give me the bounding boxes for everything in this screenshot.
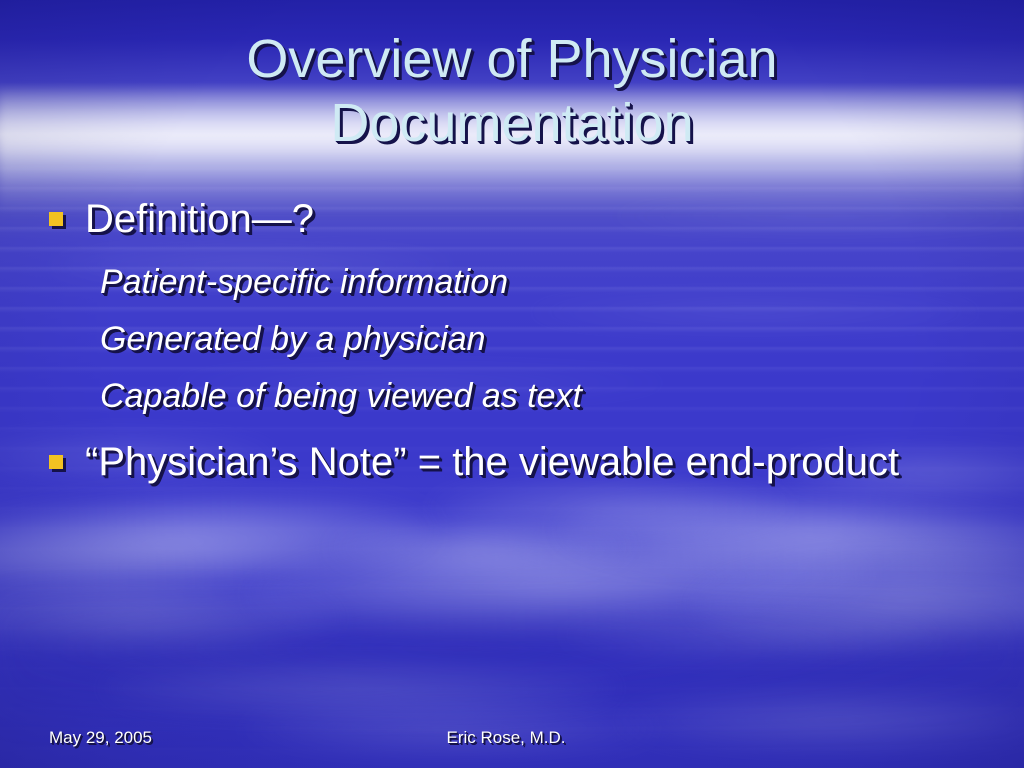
square-bullet-icon	[49, 455, 63, 469]
slide-title-line-2: Documentation	[330, 93, 693, 153]
bullet-item-label: “Physician’s Note” = the viewable end-pr…	[85, 440, 899, 484]
presentation-slide: Overview of Physician Documentation Defi…	[0, 0, 1024, 768]
sub-item-generated-by-a-physician: Generated by a physician	[100, 311, 944, 368]
footer-author: Eric Rose, M.D.	[0, 728, 1024, 748]
sub-item-capable-of-being-viewed-as-text: Capable of being viewed as text	[100, 368, 944, 425]
slide-body: Definition—? Patient-specific informatio…	[44, 196, 944, 486]
slide-content: Overview of Physician Documentation Defi…	[0, 0, 1024, 768]
square-bullet-icon	[49, 212, 63, 226]
slide-title: Overview of Physician Documentation	[50, 27, 974, 155]
bullet-item-label: Definition—?	[85, 197, 314, 241]
bullet-item-definition: Definition—?	[44, 196, 944, 243]
slide-title-line-1: Overview of Physician	[246, 29, 777, 89]
sub-item-patient-specific-information: Patient-specific information	[100, 254, 944, 311]
bullet-item-physicians-note: “Physician’s Note” = the viewable end-pr…	[44, 439, 944, 486]
